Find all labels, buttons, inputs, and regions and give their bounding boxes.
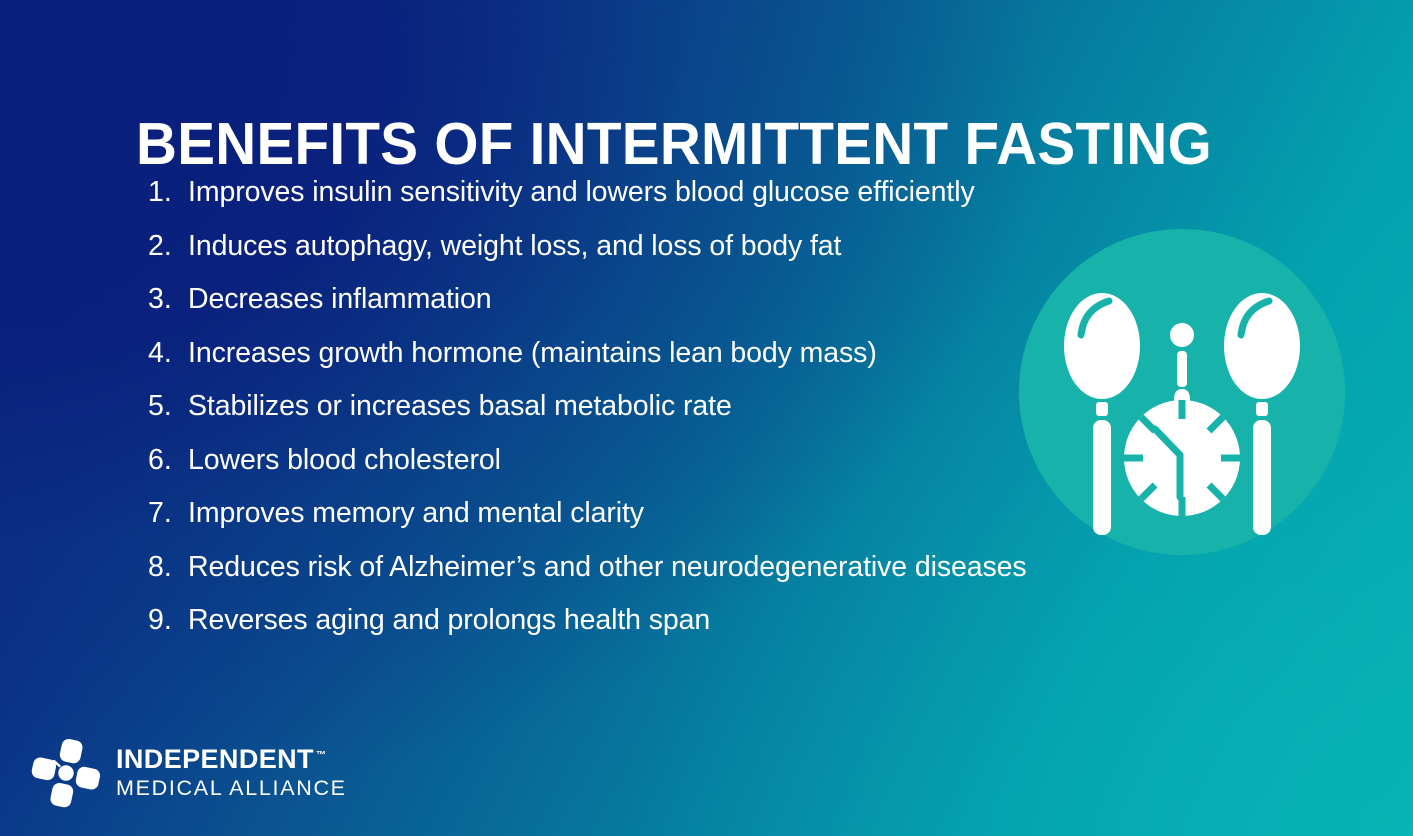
list-item-label: Reduces risk of Alzheimer’s and other ne… xyxy=(188,551,1027,584)
list-item-number: 1. xyxy=(148,176,188,209)
trademark-symbol: ™ xyxy=(316,750,326,761)
list-item-label: Induces autophagy, weight loss, and loss… xyxy=(188,230,841,263)
list-item-number: 7. xyxy=(148,497,188,530)
logo-wordmark: INDEPENDENT™ MEDICAL ALLIANCE xyxy=(116,746,347,800)
brand-logo: INDEPENDENT™ MEDICAL ALLIANCE xyxy=(30,737,347,809)
list-item: 6. Lowers blood cholesterol xyxy=(148,444,1108,498)
list-item-label: Reverses aging and prolongs health span xyxy=(188,604,710,637)
list-item: 2. Induces autophagy, weight loss, and l… xyxy=(148,230,1108,284)
list-item-label: Stabilizes or increases basal metabolic … xyxy=(188,390,732,423)
logo-primary-text: INDEPENDENT xyxy=(116,744,314,774)
list-item: 8. Reduces risk of Alzheimer’s and other… xyxy=(148,551,1108,605)
logo-secondary-name: MEDICAL ALLIANCE xyxy=(116,776,347,800)
list-item: 7. Improves memory and mental clarity xyxy=(148,497,1108,551)
independent-medical-alliance-mark-icon xyxy=(30,737,102,809)
benefits-list: 1. Improves insulin sensitivity and lowe… xyxy=(148,176,1108,658)
list-item-label: Decreases inflammation xyxy=(188,283,492,316)
list-item-number: 8. xyxy=(148,551,188,584)
list-item: 9. Reverses aging and prolongs health sp… xyxy=(148,604,1108,658)
page-title: BENEFITS OF INTERMITTENT FASTING xyxy=(136,114,1212,176)
list-item-label: Lowers blood cholesterol xyxy=(188,444,501,477)
stopwatch-icon xyxy=(1124,323,1240,516)
list-item-label: Increases growth hormone (maintains lean… xyxy=(188,337,877,370)
list-item-label: Improves insulin sensitivity and lowers … xyxy=(188,176,975,209)
list-item-number: 4. xyxy=(148,337,188,370)
slide-canvas: BENEFITS OF INTERMITTENT FASTING 1. Impr… xyxy=(0,0,1413,836)
list-item-number: 6. xyxy=(148,444,188,477)
logo-primary-name: INDEPENDENT™ xyxy=(116,746,347,774)
list-item-number: 2. xyxy=(148,230,188,263)
list-item-number: 3. xyxy=(148,283,188,316)
list-item-number: 5. xyxy=(148,390,188,423)
list-item-label: Improves memory and mental clarity xyxy=(188,497,644,530)
list-item-number: 9. xyxy=(148,604,188,637)
list-item: 4. Increases growth hormone (maintains l… xyxy=(148,337,1108,391)
list-item: 3. Decreases inflammation xyxy=(148,283,1108,337)
list-item: 5. Stabilizes or increases basal metabol… xyxy=(148,390,1108,444)
spoon-right-icon xyxy=(1224,293,1300,535)
list-item: 1. Improves insulin sensitivity and lowe… xyxy=(148,176,1108,230)
